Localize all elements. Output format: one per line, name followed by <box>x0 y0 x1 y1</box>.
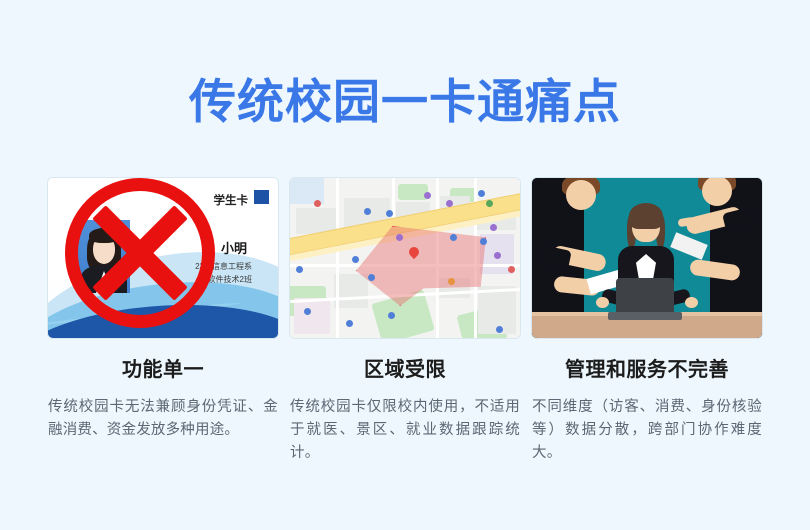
map-building <box>334 274 368 308</box>
map-poi-icon <box>508 266 515 273</box>
map-poi-icon <box>424 192 431 199</box>
map-green-area <box>398 184 428 200</box>
map-illustration <box>290 178 520 338</box>
map-poi-icon <box>496 326 503 333</box>
map-poi-icon <box>450 234 457 241</box>
student-card-title: 学生卡 <box>214 192 249 208</box>
card-management: 管理和服务不完善 不同维度（访客、消费、身份核验等）数据分散，跨部门协作难度大。 <box>532 178 762 465</box>
card-functionality: 学生卡 小明 23级信息工程系 软件技术2班 功能单一 传统校园卡无法兼顾身份凭… <box>48 178 278 465</box>
map-poi-icon <box>446 200 453 207</box>
map-poi-icon <box>386 210 393 217</box>
card-heading: 功能单一 <box>48 357 278 383</box>
office-overload-illustration <box>532 178 762 338</box>
map-poi-icon <box>296 266 303 273</box>
map-poi-icon <box>490 224 497 231</box>
card-media-student-card: 学生卡 小明 23级信息工程系 软件技术2班 <box>48 178 278 338</box>
laptop-base <box>608 312 682 320</box>
card-body: 传统校园卡无法兼顾身份凭证、金融消费、资金发放多种用途。 <box>48 396 278 442</box>
card-heading: 管理和服务不完善 <box>532 357 762 383</box>
map-poi-icon <box>368 274 375 281</box>
card-media-office <box>532 178 762 338</box>
map-poi-icon <box>480 238 487 245</box>
map-poi-icon <box>388 312 395 319</box>
map-poi-icon <box>352 256 359 263</box>
school-logo-icon <box>254 190 269 204</box>
map-poi-icon <box>448 278 455 285</box>
worker-hand-right <box>685 297 698 308</box>
page-title: 传统校园一卡通痛点 <box>0 74 810 130</box>
map-poi-icon <box>494 252 501 259</box>
map-building <box>294 298 330 334</box>
map-poi-icon <box>304 308 311 315</box>
map-poi-icon <box>346 320 353 327</box>
prohibition-cross-icon <box>65 178 215 328</box>
card-area-limited: 区域受限 传统校园卡仅限校内使用，不适用于就医、景区、就业数据跟踪统计。 <box>290 178 520 465</box>
card-body: 不同维度（访客、消费、身份核验等）数据分散，跨部门协作难度大。 <box>532 396 762 465</box>
paper-document-right <box>670 232 708 260</box>
map-poi-icon <box>314 200 321 207</box>
card-body: 传统校园卡仅限校内使用，不适用于就医、景区、就业数据跟踪统计。 <box>290 396 520 465</box>
map-poi-icon <box>396 234 403 241</box>
student-name: 小明 <box>221 238 247 257</box>
map-poi-icon <box>364 208 371 215</box>
card-media-map <box>290 178 520 338</box>
map-poi-icon <box>478 190 485 197</box>
worker-hair-top <box>629 203 663 229</box>
map-poi-icon <box>486 200 493 207</box>
worker-hand-left <box>596 297 609 308</box>
card-heading: 区域受限 <box>290 357 520 383</box>
infographic-page: 传统校园一卡通痛点 学生卡 <box>0 0 810 530</box>
laptop-screen <box>616 278 674 314</box>
colleague-left-head <box>566 180 596 210</box>
cards-row: 学生卡 小明 23级信息工程系 软件技术2班 功能单一 传统校园卡无法兼顾身份凭… <box>48 178 762 465</box>
student-card-illustration: 学生卡 小明 23级信息工程系 软件技术2班 <box>48 178 278 338</box>
map-road <box>336 178 339 338</box>
